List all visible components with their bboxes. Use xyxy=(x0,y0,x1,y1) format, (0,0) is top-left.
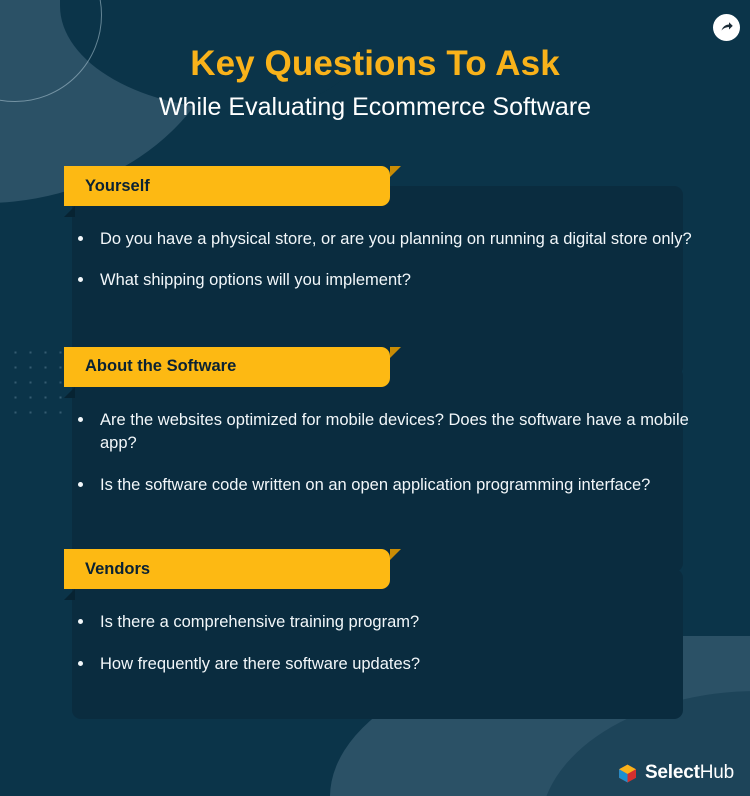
question-list: Is there a comprehensive training progra… xyxy=(0,589,750,700)
list-item: What shipping options will you implement… xyxy=(100,269,716,292)
ribbon-fold-right-icon xyxy=(390,166,401,177)
question-text: Is the software code written on an open … xyxy=(100,476,650,494)
page-subtitle: While Evaluating Ecommerce Software xyxy=(0,93,750,122)
question-list: Do you have a physical store, or are you… xyxy=(0,206,750,317)
question-list: Are the websites optimized for mobile de… xyxy=(0,387,750,521)
section-about-the-software: About the Software Are the websites opti… xyxy=(0,347,750,521)
question-text: Do you have a physical store, or are you… xyxy=(100,230,692,248)
question-text: How frequently are there software update… xyxy=(100,655,420,673)
sections-container: Yourself Do you have a physical store, o… xyxy=(0,166,750,700)
section-label: Vendors xyxy=(64,560,150,579)
ribbon-fold-left-icon xyxy=(64,387,75,398)
bullet-dot-icon xyxy=(78,277,83,282)
page-title: Key Questions To Ask xyxy=(0,44,750,84)
ribbon-fold-left-icon xyxy=(64,206,75,217)
section-ribbon-body: Yourself xyxy=(64,166,390,206)
section-ribbon: Yourself xyxy=(64,166,400,206)
bullet-dot-icon xyxy=(78,482,83,487)
list-item: Is there a comprehensive training progra… xyxy=(100,611,716,634)
selecthub-wordmark: SelectHub xyxy=(645,762,734,784)
infographic-canvas: Key Questions To Ask While Evaluating Ec… xyxy=(0,0,750,796)
section-ribbon: Vendors xyxy=(64,549,400,589)
ribbon-fold-left-icon xyxy=(64,589,75,600)
section-vendors: Vendors Is there a comprehensive trainin… xyxy=(0,549,750,700)
header: Key Questions To Ask While Evaluating Ec… xyxy=(0,0,750,122)
bullet-dot-icon xyxy=(78,661,83,666)
section-ribbon-body: About the Software xyxy=(64,347,390,387)
bullet-dot-icon xyxy=(78,236,83,241)
section-ribbon: About the Software xyxy=(64,347,400,387)
section-ribbon-body: Vendors xyxy=(64,549,390,589)
list-item: Do you have a physical store, or are you… xyxy=(100,228,716,251)
list-item: How frequently are there software update… xyxy=(100,653,716,676)
logo-hub-text: Hub xyxy=(700,762,734,783)
question-text: Are the websites optimized for mobile de… xyxy=(100,411,689,452)
section-yourself: Yourself Do you have a physical store, o… xyxy=(0,166,750,317)
bullet-dot-icon xyxy=(78,619,83,624)
ribbon-fold-right-icon xyxy=(390,549,401,560)
selecthub-cube-icon xyxy=(617,763,638,784)
selecthub-logo[interactable]: SelectHub xyxy=(617,762,734,784)
ribbon-fold-right-icon xyxy=(390,347,401,358)
bullet-dot-icon xyxy=(78,417,83,422)
section-label: About the Software xyxy=(64,357,236,376)
section-label: Yourself xyxy=(64,177,150,196)
logo-select-text: Select xyxy=(645,762,700,783)
question-text: Is there a comprehensive training progra… xyxy=(100,613,419,631)
list-item: Are the websites optimized for mobile de… xyxy=(100,409,716,456)
list-item: Is the software code written on an open … xyxy=(100,474,716,497)
question-text: What shipping options will you implement… xyxy=(100,271,411,289)
